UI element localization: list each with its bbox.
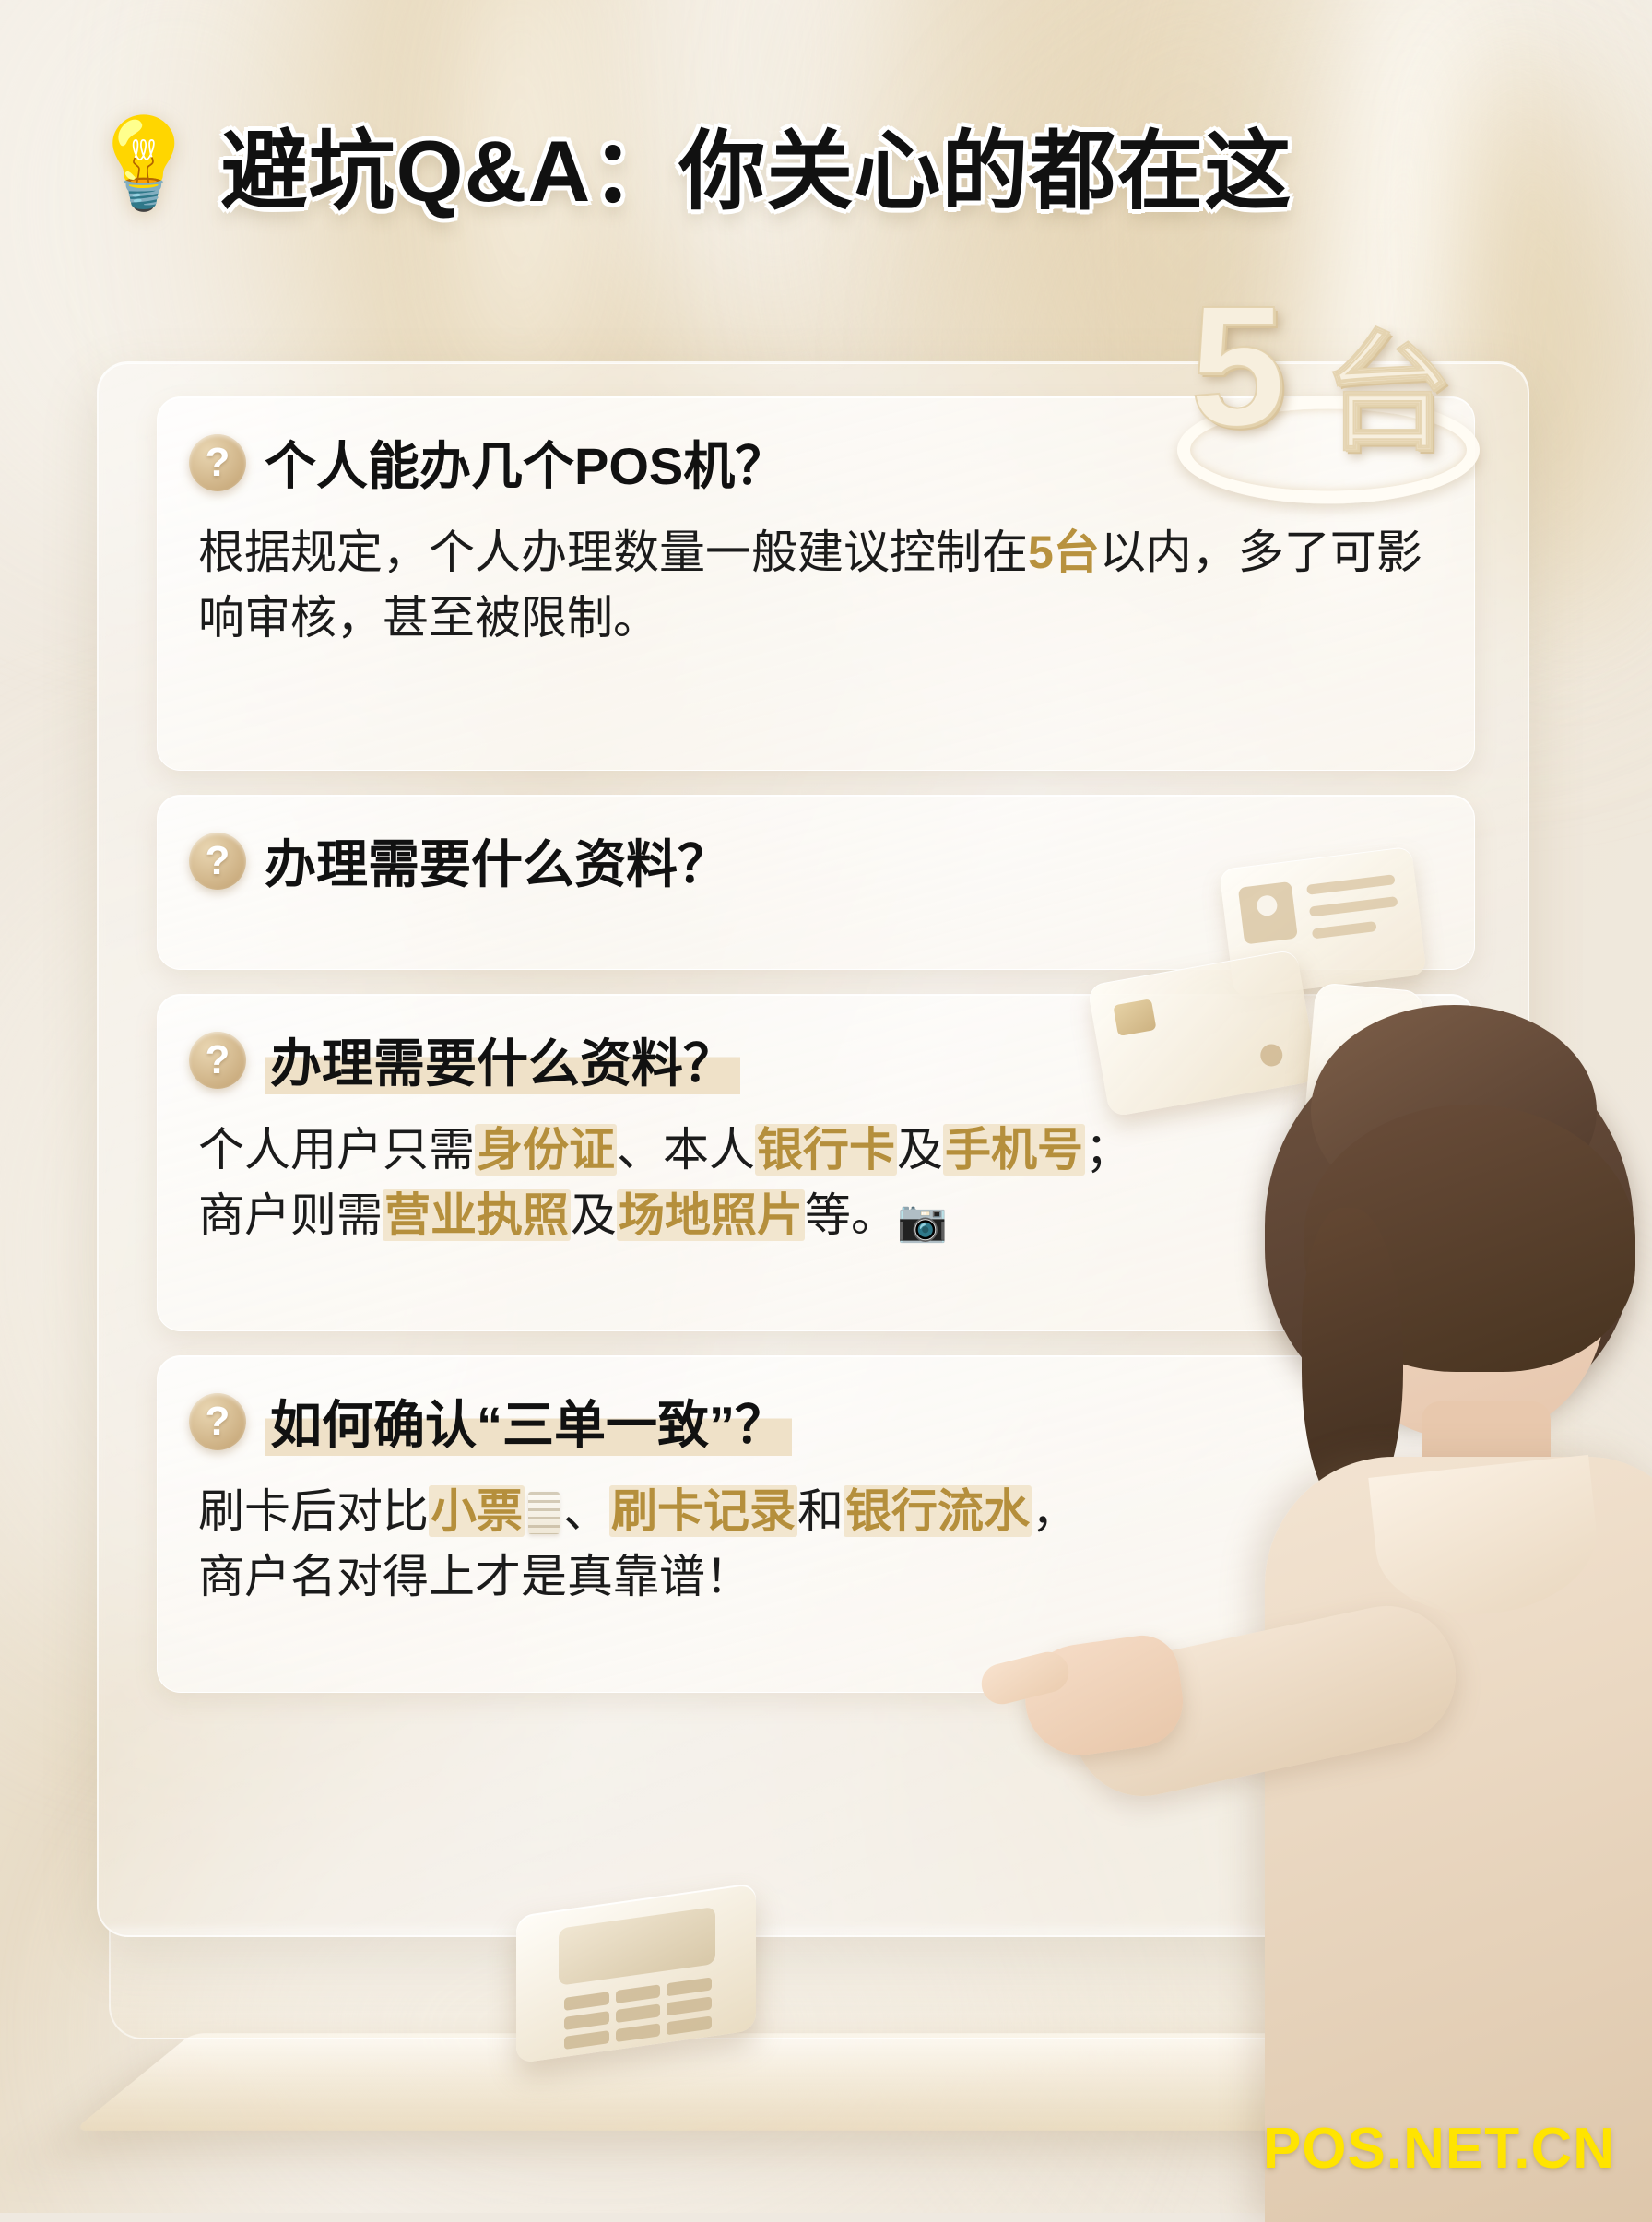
question-badge-icon: ? — [189, 1032, 246, 1089]
answer-highlight: 银行卡 — [755, 1124, 897, 1176]
question-badge-icon: ? — [189, 833, 246, 890]
glass-panel-base — [109, 1927, 1551, 2039]
qa-card[interactable]: ? 个人能办几个POS机？ 根据规定，个人办理数量一般建议控制在5台以内，多了可… — [157, 396, 1475, 771]
answer-highlight: 刷卡记录 — [609, 1485, 797, 1537]
watermark: POS.NET.CN — [1263, 2116, 1615, 2181]
answer-segment: 刷卡后对比 — [198, 1485, 429, 1537]
answer-segment: 根据规定，个人办理数量一般建议控制在 — [198, 526, 1028, 578]
answer-highlight: 手机号 — [943, 1124, 1085, 1176]
answer-segment: 、 — [563, 1485, 609, 1537]
answer-segment: ； — [1085, 1124, 1131, 1176]
answer-segment: 及 — [897, 1124, 943, 1176]
answer-highlight: 身份证 — [475, 1124, 617, 1176]
answer-segment: 、本人 — [617, 1124, 755, 1176]
answer-segment: 等。 — [805, 1189, 897, 1241]
answer-text: 根据规定，个人办理数量一般建议控制在5台以内，多了可影响审核，甚至被限制。 — [198, 520, 1439, 651]
question-badge-icon: ? — [189, 434, 246, 491]
question-row: ? 办理需要什么资料？ — [189, 1022, 1439, 1097]
answer-highlight: 5台 — [1028, 526, 1100, 578]
lightbulb-icon: 💡 — [88, 120, 199, 208]
answer-segment: ， — [1032, 1485, 1078, 1537]
pos-terminal-icon — [516, 1844, 820, 2056]
answer-highlight: 小票 — [429, 1485, 525, 1537]
camera-icon: 📷 — [897, 1199, 948, 1244]
question-text: 如何确认“三单一致”？ — [265, 1384, 792, 1459]
question-badge-icon: ? — [189, 1393, 246, 1450]
answer-segment: 商户名对得上才是真靠谱！ — [198, 1551, 751, 1602]
answer-highlight: 营业执照 — [383, 1189, 571, 1241]
answer-segment: 和 — [797, 1485, 844, 1537]
page-title: 避坑Q&A：你关心的都在这 — [221, 101, 1292, 227]
answer-highlight: 银行流水 — [844, 1485, 1032, 1537]
qa-card[interactable]: ? 如何确认“三单一致”？ 刷卡后对比小票、刷卡记录和银行流水， 商户名对得上才… — [157, 1355, 1475, 1693]
answer-text: 个人用户只需身份证、本人银行卡及手机号； 商户则需营业执照及场地照片等。📷 — [198, 1117, 1439, 1250]
answer-segment: 个人用户只需 — [198, 1124, 475, 1176]
qa-card[interactable]: ? 办理需要什么资料？ — [157, 795, 1475, 970]
answer-segment: 商户则需 — [198, 1189, 383, 1241]
qa-card[interactable]: ? 办理需要什么资料？ 个人用户只需身份证、本人银行卡及手机号； 商户则需营业执… — [157, 994, 1475, 1331]
question-row: ? 个人能办几个POS机？ — [189, 425, 1439, 500]
receipt-icon — [528, 1492, 560, 1534]
pos-keypad — [564, 1977, 712, 2049]
pos-screen — [559, 1907, 715, 1986]
pos-body — [516, 1883, 756, 2064]
page-header: 💡 避坑Q&A：你关心的都在这 — [88, 101, 1292, 227]
answer-highlight: 场地照片 — [617, 1189, 805, 1241]
answer-text: 刷卡后对比小票、刷卡记录和银行流水， 商户名对得上才是真靠谱！ — [198, 1479, 1439, 1610]
answer-segment: 及 — [571, 1189, 617, 1241]
question-text: 个人能办几个POS机？ — [265, 425, 786, 500]
question-row: ? 如何确认“三单一致”？ — [189, 1384, 1439, 1459]
qa-card-list: ? 个人能办几个POS机？ 根据规定，个人办理数量一般建议控制在5台以内，多了可… — [157, 396, 1475, 1717]
question-text: 办理需要什么资料？ — [265, 1022, 740, 1097]
question-text: 办理需要什么资料？ — [265, 823, 729, 898]
question-row: ? 办理需要什么资料？ — [189, 823, 1439, 898]
